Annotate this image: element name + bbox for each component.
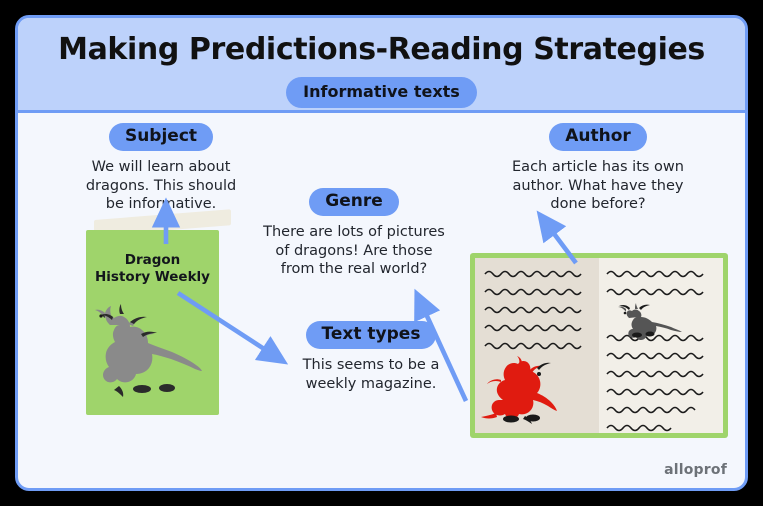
block-text-types: Text types This seems to be a weekly mag… [276, 321, 466, 393]
book-page-left [475, 258, 599, 433]
block-author-label: Author [549, 123, 647, 151]
block-subject-label: Subject [109, 123, 213, 151]
block-text-types-label: Text types [306, 321, 437, 349]
gray-dragon-icon [86, 302, 219, 412]
block-genre-text: There are lots of pictures of dragons! A… [244, 223, 464, 279]
magazine-title: Dragon History Weekly [86, 252, 219, 286]
subtitle-badge: Informative texts [286, 77, 477, 108]
open-book-illustration [470, 253, 728, 438]
watermark-logo: alloprof [664, 462, 727, 478]
block-subject-text: We will learn about dragons. This should… [66, 158, 256, 214]
page-title: Making Predictions-Reading Strategies [18, 34, 745, 66]
poster-body: Subject We will learn about dragons. Thi… [18, 113, 745, 491]
book-page-right [599, 258, 723, 433]
block-genre: Genre There are lots of pictures of drag… [244, 188, 464, 279]
magazine-cover: Dragon History Weekly [86, 230, 219, 415]
poster-header: Making Predictions-Reading Strategies In… [18, 18, 745, 113]
book-right-content [599, 258, 723, 433]
block-author: Author Each article has its own author. … [488, 123, 708, 214]
block-author-text: Each article has its own author. What ha… [488, 158, 708, 214]
block-genre-label: Genre [309, 188, 399, 216]
block-text-types-text: This seems to be a weekly magazine. [276, 356, 466, 393]
poster-card: Making Predictions-Reading Strategies In… [15, 15, 748, 491]
magazine-illustration: Dragon History Weekly [86, 220, 231, 415]
block-subject: Subject We will learn about dragons. Thi… [66, 123, 256, 214]
book-left-content [475, 258, 599, 433]
